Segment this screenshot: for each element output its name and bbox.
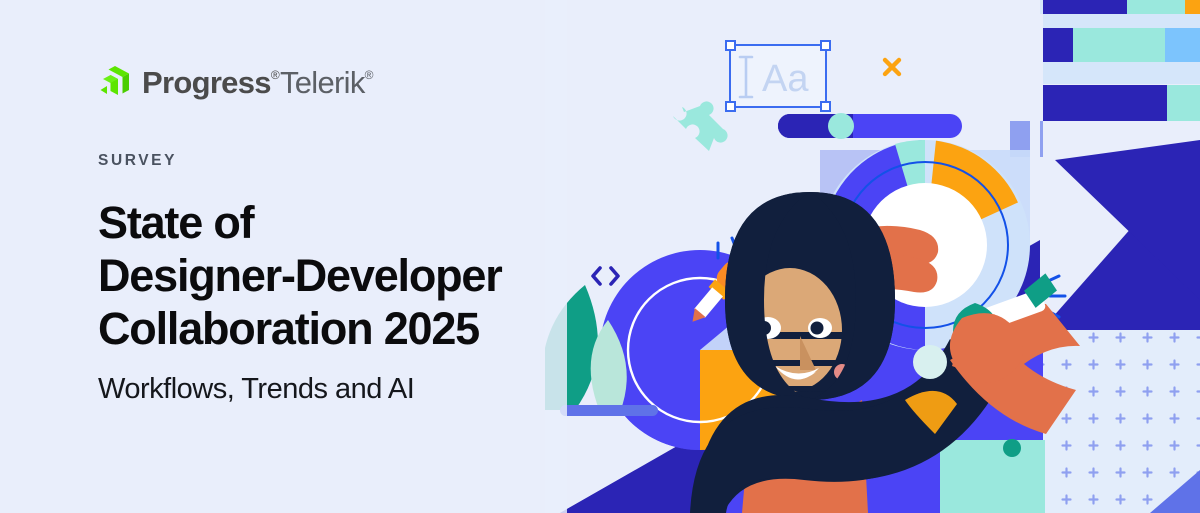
- brand-registered-1: ®: [271, 69, 279, 81]
- headline-line-2: Designer-Developer: [98, 249, 568, 302]
- slider-handle: [828, 113, 854, 139]
- headline-line-3: Collaboration 2025: [98, 302, 568, 355]
- text-field-selection-box[interactable]: Aa: [726, 41, 830, 111]
- brand-progress: Progress: [142, 67, 271, 98]
- teal-dot-accent: [1003, 439, 1021, 457]
- brand-wordmark: Progress®Telerik®: [142, 67, 373, 98]
- page-title: State of Designer-Developer Collaboratio…: [98, 196, 568, 355]
- dot-grid-pattern: [1043, 330, 1200, 513]
- hero-banner: Aa: [0, 0, 1200, 513]
- plant-shelf: [560, 405, 658, 416]
- brand-registered-2: ®: [365, 69, 373, 81]
- brand-logo[interactable]: Progress®Telerik®: [98, 60, 568, 104]
- subtitle: Workflows, Trends and AI: [98, 373, 568, 406]
- slider-control[interactable]: [778, 113, 962, 139]
- brand-telerik: Telerik: [280, 67, 365, 98]
- aa-placeholder-text: Aa: [762, 58, 809, 100]
- headline-line-1: State of: [98, 196, 568, 249]
- eyebrow-label: SURVEY: [98, 152, 568, 170]
- progress-cube-icon: [98, 65, 132, 99]
- hero-text-column: Progress®Telerik® SURVEY State of Design…: [98, 60, 568, 406]
- mint-circle-accent: [913, 345, 947, 379]
